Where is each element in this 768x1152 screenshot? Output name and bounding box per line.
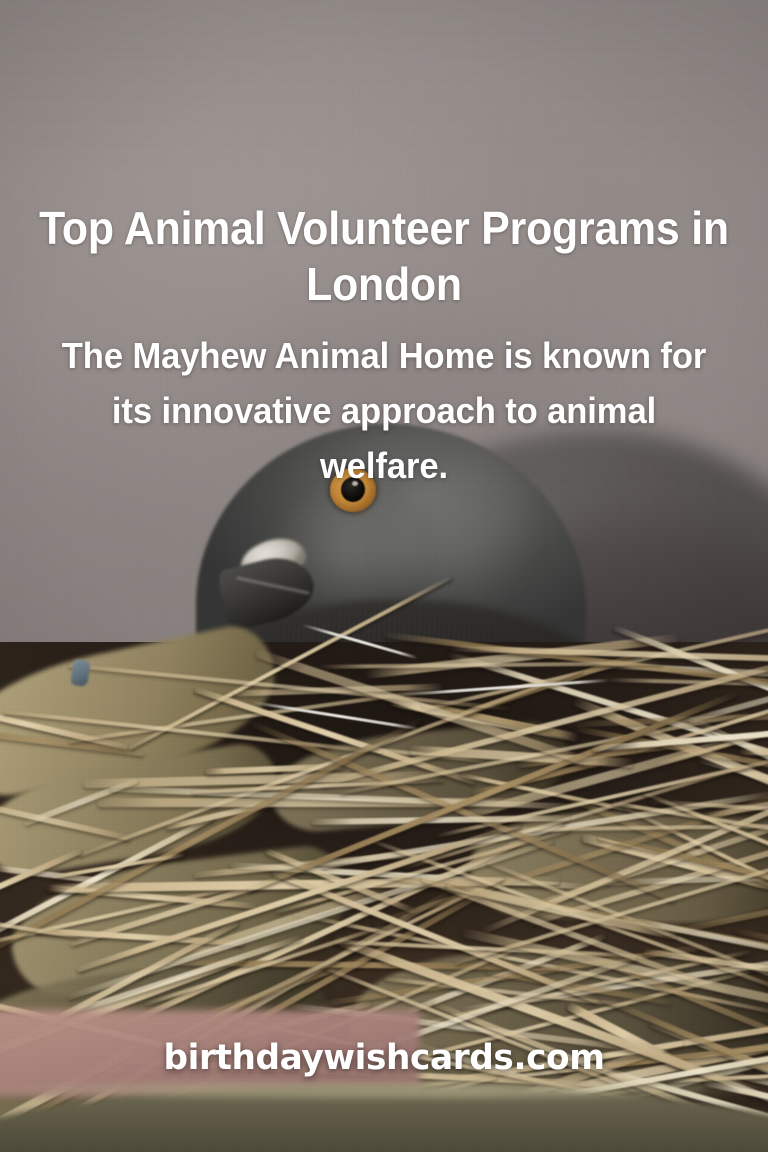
page-title: Top Animal Volunteer Programs in London: [27, 200, 741, 312]
background-photo: [0, 0, 768, 1152]
nest-bowl-rim-highlight: [0, 1082, 768, 1098]
page-subtitle: The Mayhew Animal Home is known for its …: [15, 328, 752, 493]
site-watermark: birthdaywishcards.com: [8, 1036, 761, 1080]
pinterest-style-poster: Top Animal Volunteer Programs in London …: [0, 0, 768, 1152]
